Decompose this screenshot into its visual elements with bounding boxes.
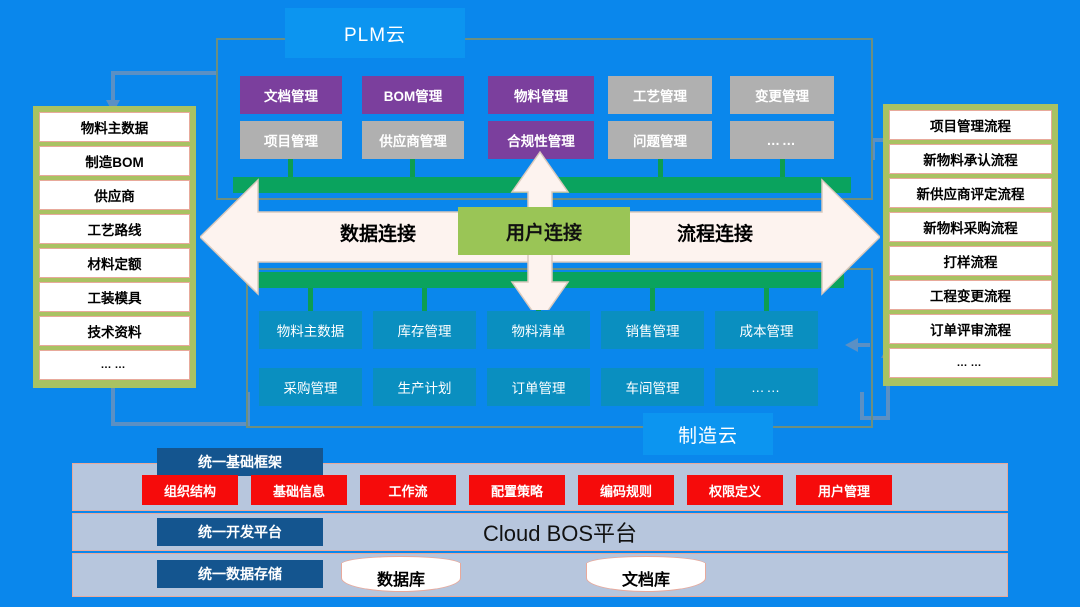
list-item[interactable]: 工装模具 xyxy=(39,282,190,312)
plm-cloud-title: PLM云 xyxy=(285,8,465,58)
mfg-module-tile[interactable]: 成本管理 xyxy=(715,311,818,349)
list-item[interactable]: 物料主数据 xyxy=(39,112,190,142)
list-item[interactable]: 制造BOM xyxy=(39,146,190,176)
framework-chip[interactable]: 配置策略 xyxy=(469,475,565,505)
database-cylinder[interactable]: 数据库 xyxy=(341,556,461,592)
framework-chip[interactable]: 基础信息 xyxy=(251,475,347,505)
base-framework-label: 统一基础框架 xyxy=(157,448,323,476)
data-storage-label: 统一数据存储 xyxy=(157,560,323,588)
plm-module-tile[interactable]: 变更管理 xyxy=(730,76,834,114)
framework-chip[interactable]: 工作流 xyxy=(360,475,456,505)
framework-chip[interactable]: 用户管理 xyxy=(796,475,892,505)
document-store-label: 文档库 xyxy=(586,563,706,592)
list-item[interactable]: 新供应商评定流程 xyxy=(889,178,1052,208)
list-item[interactable]: …… xyxy=(39,350,190,380)
list-item[interactable]: 项目管理流程 xyxy=(889,110,1052,140)
list-item[interactable]: …… xyxy=(889,348,1052,378)
mfg-module-tile[interactable]: 物料主数据 xyxy=(259,311,362,349)
mfg-cloud-title: 制造云 xyxy=(643,413,773,455)
list-item[interactable]: 供应商 xyxy=(39,180,190,210)
list-item[interactable]: 工程变更流程 xyxy=(889,280,1052,310)
mfg-module-tile[interactable]: …… xyxy=(715,368,818,406)
process-connection-label: 流程连接 xyxy=(645,212,785,252)
right-process-panel: 项目管理流程 新物料承认流程 新供应商评定流程 新物料采购流程 打样流程 工程变… xyxy=(883,104,1058,386)
diagram-canvas: PLM云 文档管理 BOM管理 物料管理 工艺管理 变更管理 项目管理 供应商管… xyxy=(0,0,1080,607)
left-data-panel: 物料主数据 制造BOM 供应商 工艺路线 材料定额 工装模具 技术资料 …… xyxy=(33,106,196,388)
document-store-cylinder[interactable]: 文档库 xyxy=(586,556,706,592)
plm-module-tile[interactable]: 工艺管理 xyxy=(608,76,712,114)
mfg-module-tile[interactable]: 生产计划 xyxy=(373,368,476,406)
list-item[interactable]: 新物料采购流程 xyxy=(889,212,1052,242)
mfg-module-tile[interactable]: 车间管理 xyxy=(601,368,704,406)
database-label: 数据库 xyxy=(341,563,461,592)
mfg-module-tile[interactable]: 销售管理 xyxy=(601,311,704,349)
list-item[interactable]: 技术资料 xyxy=(39,316,190,346)
dev-platform-label: 统一开发平台 xyxy=(157,518,323,546)
framework-chip[interactable]: 组织结构 xyxy=(142,475,238,505)
mfg-module-tile[interactable]: 采购管理 xyxy=(259,368,362,406)
list-item[interactable]: 订单评审流程 xyxy=(889,314,1052,344)
list-item[interactable]: 打样流程 xyxy=(889,246,1052,276)
plm-module-tile[interactable]: 物料管理 xyxy=(488,76,594,114)
framework-chip[interactable]: 编码规则 xyxy=(578,475,674,505)
cloud-bos-title: Cloud BOS平台 xyxy=(400,516,720,548)
data-connection-label: 数据连接 xyxy=(308,212,448,252)
list-item[interactable]: 材料定额 xyxy=(39,248,190,278)
plm-module-tile[interactable]: 文档管理 xyxy=(240,76,342,114)
mfg-module-tile[interactable]: 物料清单 xyxy=(487,311,590,349)
user-connection-chip: 用户连接 xyxy=(458,207,630,255)
list-item[interactable]: 工艺路线 xyxy=(39,214,190,244)
mfg-module-tile[interactable]: 订单管理 xyxy=(487,368,590,406)
user-connection-label: 用户连接 xyxy=(506,218,582,245)
framework-chip[interactable]: 权限定义 xyxy=(687,475,783,505)
mfg-module-tile[interactable]: 库存管理 xyxy=(373,311,476,349)
plm-module-tile[interactable]: BOM管理 xyxy=(362,76,464,114)
list-item[interactable]: 新物料承认流程 xyxy=(889,144,1052,174)
